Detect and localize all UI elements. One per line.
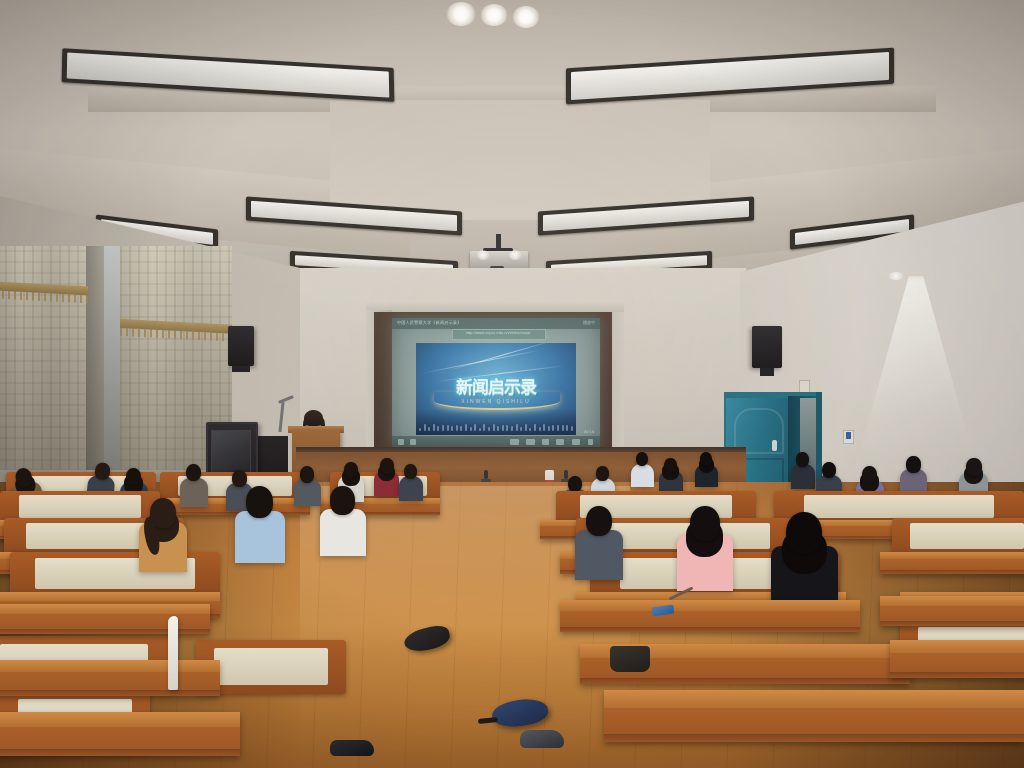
audience-member-head xyxy=(126,468,141,485)
audience-member-head xyxy=(862,466,877,483)
white-cane xyxy=(168,616,178,690)
audience-member-head xyxy=(246,486,273,518)
desk-edge xyxy=(604,734,1024,742)
chair-cushion xyxy=(19,495,141,518)
audience-member-head xyxy=(690,506,720,541)
audience-member-torso xyxy=(631,464,654,488)
audience-member-head xyxy=(796,452,809,467)
audience-member-head xyxy=(586,506,612,536)
audience-member-head xyxy=(344,462,358,478)
audience-member-torso xyxy=(294,479,321,506)
audience-member-torso xyxy=(320,509,366,556)
handbag xyxy=(610,646,650,672)
audience-member-head xyxy=(404,464,417,479)
chair-cushion xyxy=(214,648,328,686)
audience-desk xyxy=(0,660,220,696)
desk-edge xyxy=(890,672,1024,678)
audience-member-head xyxy=(966,458,982,476)
desk-top xyxy=(0,712,240,727)
audience-desk xyxy=(604,690,1024,742)
audience-desk xyxy=(890,640,1024,678)
desk-top xyxy=(890,640,1024,653)
audience-member-head xyxy=(94,462,110,480)
audience-area xyxy=(0,0,1024,768)
desk-edge xyxy=(560,627,860,632)
chair-cushion xyxy=(910,523,1024,549)
desk-edge xyxy=(0,690,220,696)
audience-desk xyxy=(880,552,1024,574)
audience-member-head xyxy=(568,476,582,492)
desk-edge xyxy=(0,629,210,634)
audience-desk xyxy=(0,712,240,756)
audience-member-torso xyxy=(399,476,423,501)
shoe xyxy=(520,730,564,748)
audience-member-head xyxy=(186,464,201,481)
audience-desk xyxy=(880,596,1024,626)
desk-top xyxy=(560,600,860,611)
audience-member-head xyxy=(822,462,836,478)
desk-edge xyxy=(880,621,1024,626)
audience-member-head xyxy=(906,456,921,473)
audience-member-head xyxy=(330,486,355,515)
audience-member-head xyxy=(664,458,677,473)
audience-member-head xyxy=(300,466,314,483)
audience-member-head xyxy=(232,470,247,487)
desk-top xyxy=(880,552,1024,559)
audience-member-head xyxy=(380,458,394,474)
audience-member-torso xyxy=(791,464,815,489)
desk-top xyxy=(604,690,1024,708)
conference-room-photo: 中国人民警察大学《新闻启示录》 播放中 http://www.ccpcc.edu… xyxy=(0,0,1024,768)
audience-member-torso xyxy=(180,478,208,507)
audience-member-torso xyxy=(575,530,623,580)
audience-desk xyxy=(560,600,860,632)
desk-top xyxy=(880,596,1024,606)
desk-top xyxy=(0,592,220,601)
chair-cushion xyxy=(804,495,994,518)
audience-chair xyxy=(10,552,220,596)
audience-desk xyxy=(0,604,210,634)
shoe xyxy=(330,740,374,756)
desk-edge xyxy=(580,678,910,684)
desk-top xyxy=(0,660,220,672)
audience-member-head xyxy=(596,466,609,481)
audience-member-torso xyxy=(235,511,286,563)
audience-member-head xyxy=(786,512,822,554)
audience-chair xyxy=(892,518,1024,555)
desk-edge xyxy=(880,570,1024,574)
desk-top xyxy=(0,604,210,614)
desk-edge xyxy=(0,749,240,756)
